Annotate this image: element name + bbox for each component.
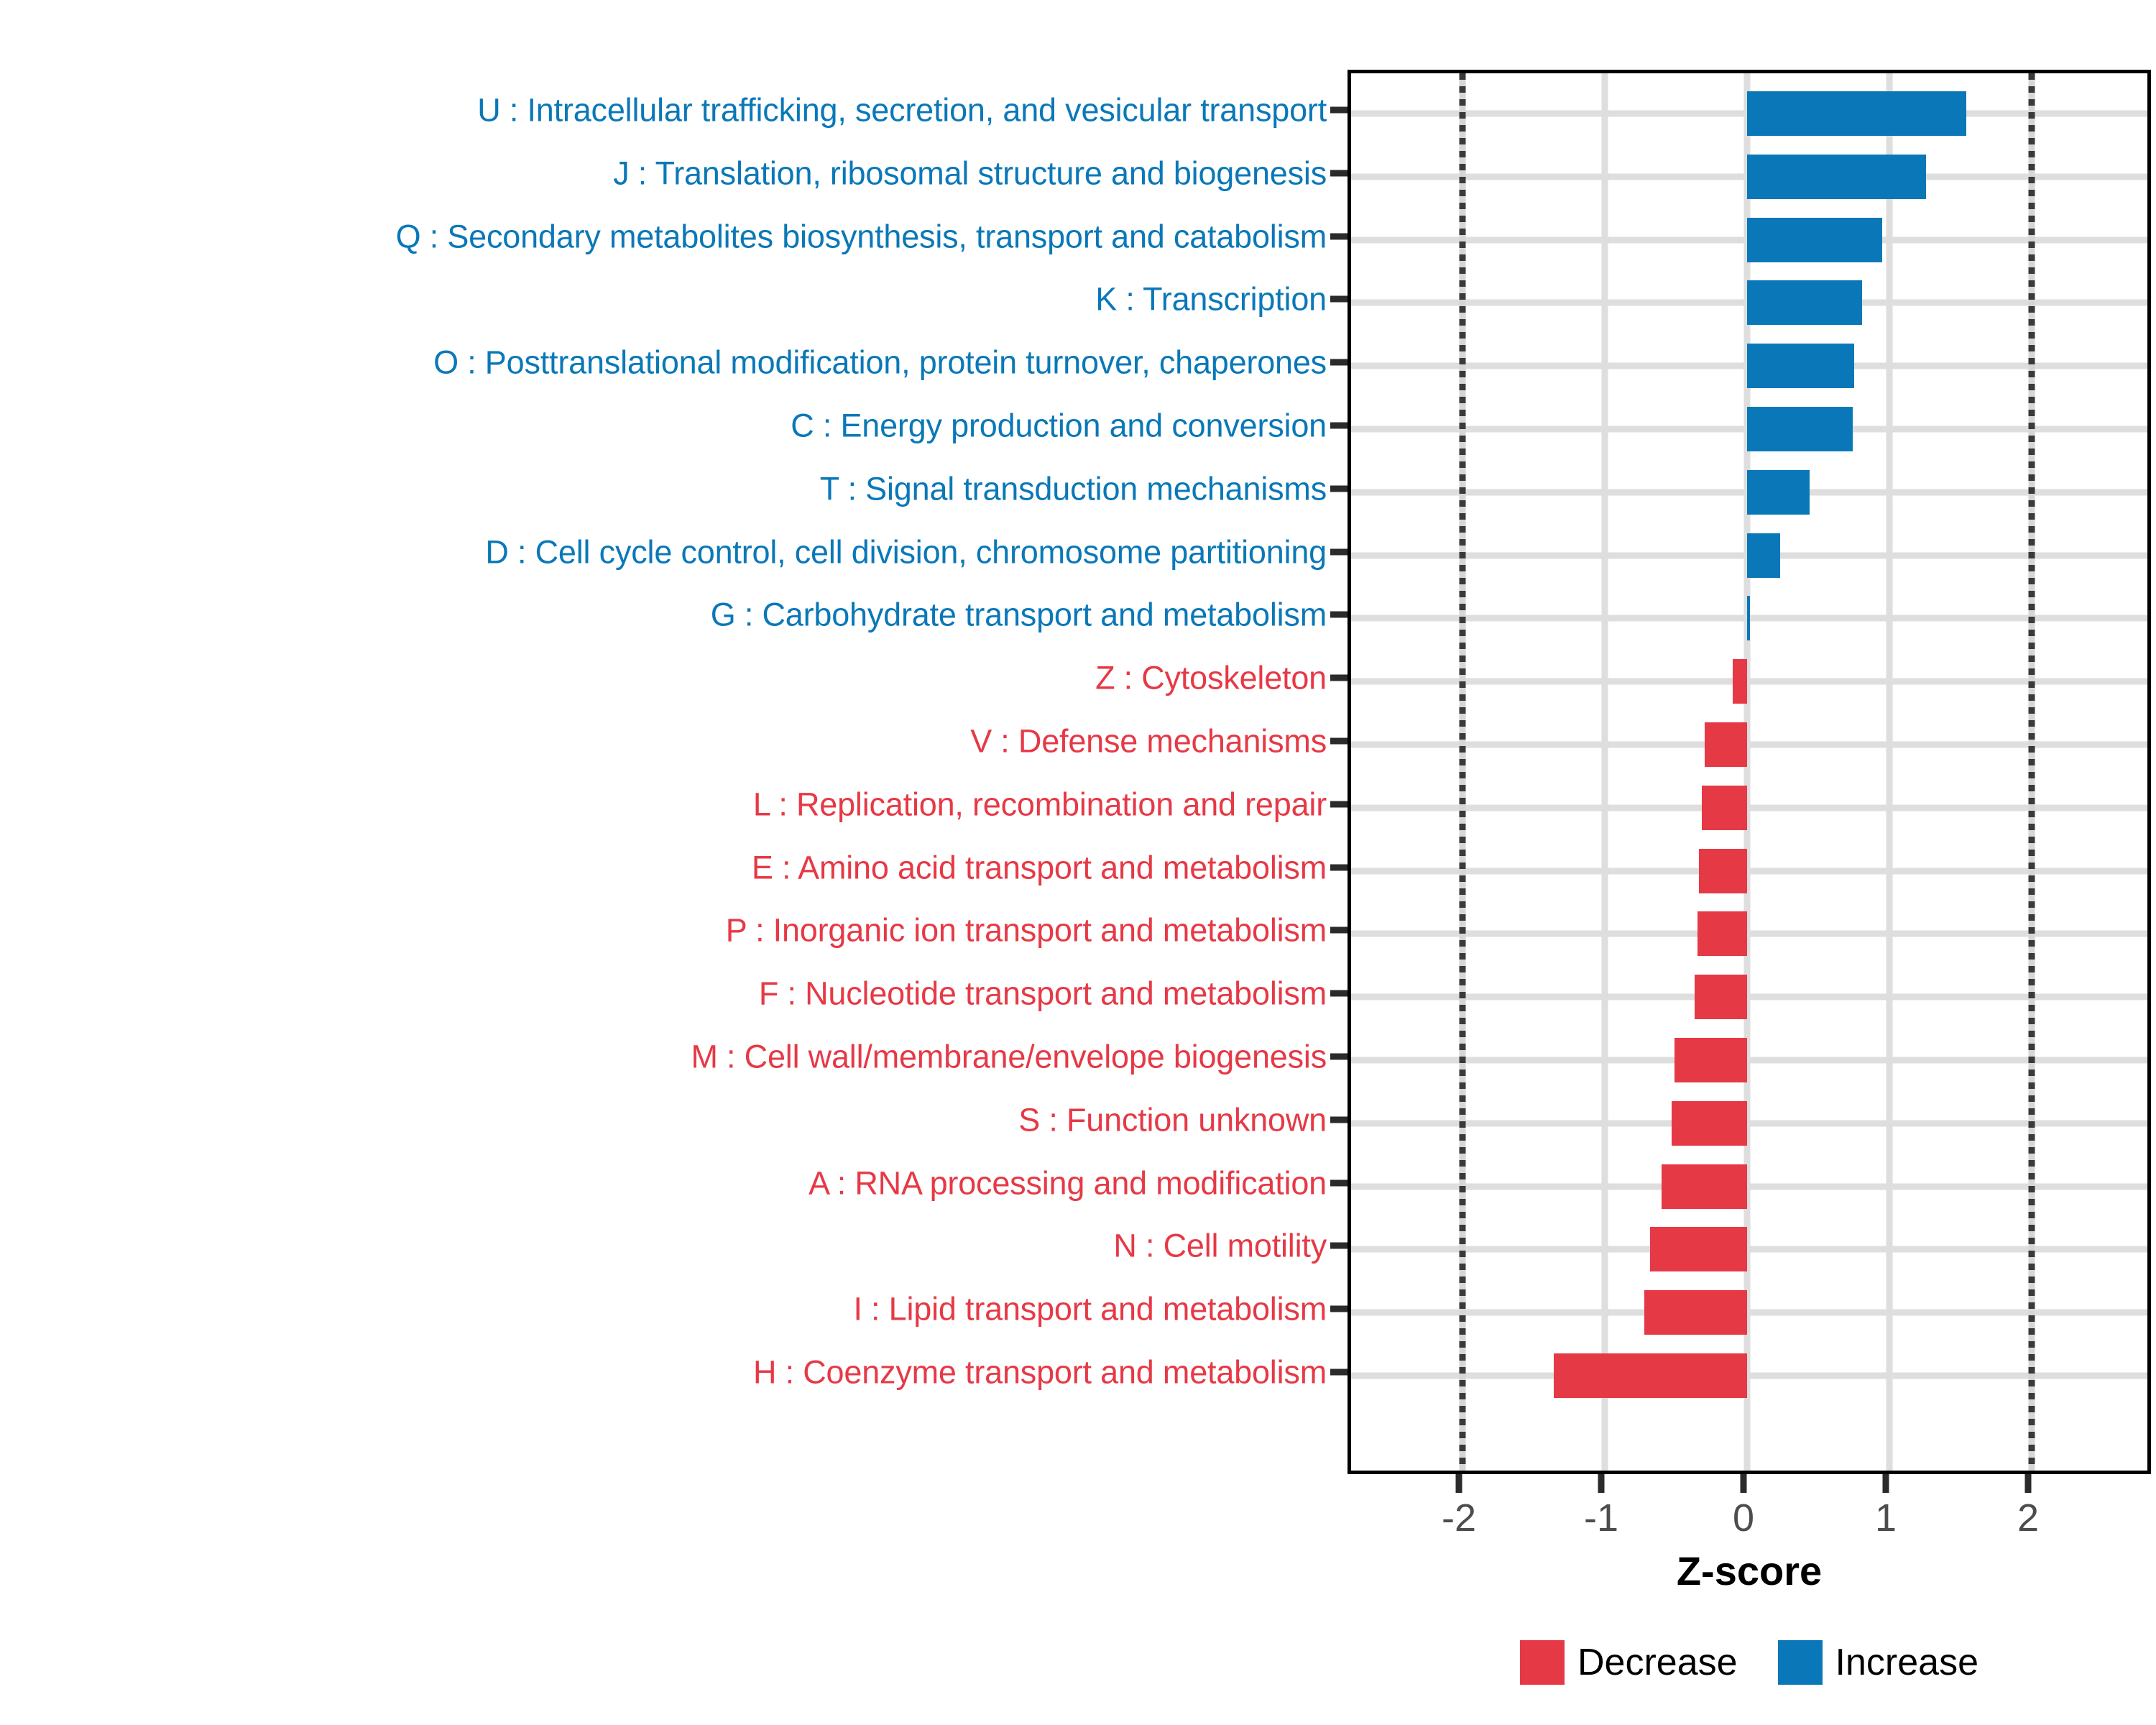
x-axis-tick	[1883, 1474, 1889, 1493]
y-axis-tick	[1330, 107, 1347, 114]
y-axis-label: A : RNA processing and modification	[808, 1167, 1327, 1199]
y-axis-label: E : Amino acid transport and metabolism	[752, 851, 1327, 883]
y-axis-tick	[1330, 1369, 1347, 1376]
bar	[1747, 280, 1862, 325]
x-axis-tick	[1598, 1474, 1605, 1493]
y-axis-label: F : Nucleotide transport and metabolism	[759, 977, 1327, 1010]
legend-label: Increase	[1835, 1644, 1978, 1681]
bar	[1705, 722, 1747, 767]
y-axis-tick	[1330, 1054, 1347, 1060]
legend-label: Decrease	[1577, 1644, 1738, 1681]
bar	[1672, 1101, 1747, 1146]
x-axis-tick-label: 0	[1733, 1499, 1754, 1537]
bar	[1747, 407, 1853, 451]
y-axis-label: C : Energy production and conversion	[791, 410, 1327, 442]
vertical-gridline	[1602, 73, 1608, 1471]
x-axis-tick-label: -2	[1442, 1499, 1476, 1537]
legend-swatch	[1520, 1640, 1565, 1685]
y-axis-tick	[1330, 485, 1347, 492]
plot-panel	[1347, 70, 2151, 1474]
bar	[1674, 1038, 1747, 1082]
bar	[1747, 596, 1750, 640]
reference-line	[1460, 73, 1466, 1471]
y-axis-tick	[1330, 612, 1347, 618]
legend-swatch	[1778, 1640, 1823, 1685]
y-axis-label: O : Posttranslational modification, prot…	[433, 346, 1327, 379]
y-axis-label: L : Replication, recombination and repai…	[753, 788, 1327, 820]
bar	[1695, 975, 1747, 1019]
y-axis-label: I : Lipid transport and metabolism	[853, 1293, 1327, 1325]
x-axis-tick	[1456, 1474, 1462, 1493]
y-axis-tick	[1330, 170, 1347, 176]
y-axis-label: Q : Secondary metabolites biosynthesis, …	[396, 220, 1327, 252]
x-axis-tick	[1741, 1474, 1747, 1493]
y-axis-tick	[1330, 1116, 1347, 1123]
y-axis-label: N : Cell motility	[1113, 1230, 1327, 1262]
bar	[1747, 218, 1882, 262]
vertical-gridline	[1886, 73, 1893, 1471]
y-axis-tick	[1330, 1306, 1347, 1312]
y-axis-category-labels: U : Intracellular trafficking, secretion…	[0, 0, 1338, 1725]
y-axis-tick	[1330, 359, 1347, 366]
y-axis-tick	[1330, 801, 1347, 807]
bar	[1697, 911, 1747, 956]
y-axis-label: M : Cell wall/membrane/envelope biogenes…	[691, 1041, 1327, 1073]
y-axis-label: T : Signal transduction mechanisms	[820, 472, 1327, 505]
bar	[1747, 91, 1966, 136]
bar	[1747, 470, 1810, 515]
bar	[1554, 1353, 1747, 1398]
y-axis-label: V : Defense mechanisms	[970, 725, 1327, 758]
y-axis-tick	[1330, 548, 1347, 555]
bar	[1650, 1227, 1747, 1271]
legend-item: Increase	[1778, 1640, 1978, 1685]
bar	[1747, 155, 1926, 199]
bar	[1702, 786, 1747, 830]
x-axis-tick	[2025, 1474, 2032, 1493]
legend: DecreaseIncrease	[1347, 1640, 2151, 1685]
x-axis-tick-label: 1	[1875, 1499, 1897, 1537]
legend-item: Decrease	[1520, 1640, 1738, 1685]
bar	[1699, 849, 1747, 893]
y-axis-label: J : Translation, ribosomal structure and…	[613, 157, 1327, 189]
y-axis-label: Z : Cytoskeleton	[1095, 662, 1327, 694]
y-axis-tick	[1330, 233, 1347, 239]
cog-zscore-bar-chart: U : Intracellular trafficking, secretion…	[0, 0, 2156, 1725]
x-axis-tick-label: -1	[1584, 1499, 1618, 1537]
x-axis-tick-label: 2	[2017, 1499, 2039, 1537]
bar	[1733, 659, 1747, 704]
y-axis-label: U : Intracellular trafficking, secretion…	[477, 94, 1327, 126]
y-axis-label: G : Carbohydrate transport and metabolis…	[711, 599, 1327, 631]
y-axis-label: D : Cell cycle control, cell division, c…	[485, 535, 1327, 568]
bar	[1644, 1290, 1747, 1335]
y-axis-tick	[1330, 423, 1347, 429]
bar	[1747, 533, 1780, 578]
y-axis-tick	[1330, 1243, 1347, 1249]
x-axis-title: Z-score	[1347, 1551, 2151, 1591]
y-axis-tick	[1330, 738, 1347, 745]
y-axis-tick	[1330, 927, 1347, 934]
y-axis-tick	[1330, 675, 1347, 681]
y-axis-label: P : Inorganic ion transport and metaboli…	[726, 914, 1327, 947]
bar	[1662, 1164, 1747, 1209]
y-axis-tick	[1330, 990, 1347, 997]
y-axis-label: H : Coenzyme transport and metabolism	[753, 1356, 1327, 1389]
y-axis-tick	[1330, 296, 1347, 303]
y-axis-label: S : Function unknown	[1018, 1103, 1327, 1136]
bar	[1747, 344, 1854, 388]
y-axis-label: K : Transcription	[1095, 283, 1327, 316]
y-axis-tick	[1330, 1179, 1347, 1186]
y-axis-tick	[1330, 864, 1347, 870]
reference-line	[2029, 73, 2035, 1471]
